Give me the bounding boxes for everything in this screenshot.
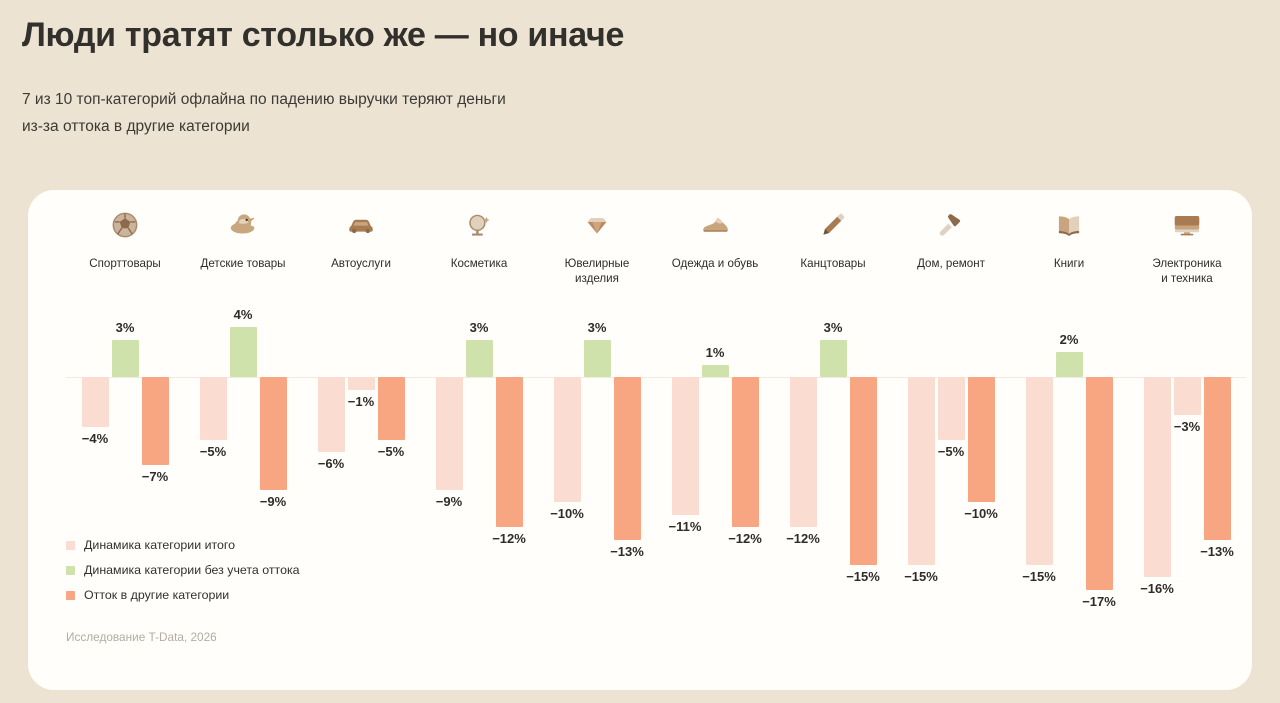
bar-slot: 2% (1056, 318, 1083, 608)
legend-item-outflow[interactable]: Отток в другие категории (66, 588, 300, 602)
bar-отток-в-другие-категории[interactable] (1086, 377, 1113, 590)
bar-group: −6%−1%−5% (302, 318, 420, 608)
bar-value-label: −10% (964, 506, 998, 521)
bar-slot: −15% (1026, 318, 1053, 608)
bar-slot: −9% (436, 318, 463, 608)
source-note: Исследование T-Data, 2026 (66, 630, 217, 644)
bar-value-label: −4% (82, 431, 108, 446)
bar-динамика-категории-итого[interactable] (1026, 377, 1053, 565)
bar-slot: −17% (1086, 318, 1113, 608)
bar-динамика-категории-итого[interactable] (436, 377, 463, 490)
bar-динамика-категории-итого[interactable] (908, 377, 935, 565)
legend-swatch-icon (66, 591, 75, 600)
bar-динамика-категории-без-учета-оттока[interactable] (230, 327, 257, 377)
bar-value-label: −17% (1082, 594, 1116, 609)
category-header-category-3: Автоуслуги (302, 208, 420, 271)
car-icon (344, 208, 378, 242)
bar-динамика-категории-без-учета-оттока[interactable] (820, 340, 847, 378)
bar-slot: −10% (968, 318, 995, 608)
category-label: Ювелирные изделия (565, 256, 630, 286)
bar-динамика-категории-без-учета-оттока[interactable] (938, 377, 965, 440)
bar-динамика-категории-без-учета-оттока[interactable] (584, 340, 611, 378)
category-label: Спорттовары (89, 256, 161, 271)
bar-value-label: 3% (116, 320, 135, 335)
bar-value-label: −12% (492, 531, 526, 546)
bar-slot: −5% (378, 318, 405, 608)
rubber-duck-icon (226, 208, 260, 242)
bar-value-label: −12% (728, 531, 762, 546)
bar-slot: −1% (348, 318, 375, 608)
legend-label: Отток в другие категории (84, 588, 229, 602)
bar-динамика-категории-без-учета-оттока[interactable] (112, 340, 139, 378)
bar-slot: −12% (496, 318, 523, 608)
bar-slot: −10% (554, 318, 581, 608)
category-label: Электроника и техника (1152, 256, 1221, 286)
bar-group: −16%−3%−13% (1128, 318, 1246, 608)
bar-slot: −15% (850, 318, 877, 608)
bar-value-label: −15% (846, 569, 880, 584)
bar-динамика-категории-без-учета-оттока[interactable] (348, 377, 375, 390)
legend-label: Динамика категории без учета оттока (84, 563, 300, 577)
bar-value-label: −7% (142, 469, 168, 484)
bar-value-label: 1% (706, 345, 725, 360)
category-label: Одежда и обувь (672, 256, 759, 271)
bar-динамика-категории-итого[interactable] (672, 377, 699, 515)
bar-динамика-категории-итого[interactable] (1144, 377, 1171, 577)
bar-value-label: −15% (1022, 569, 1056, 584)
shoe-icon (698, 208, 732, 242)
bar-slot: −15% (908, 318, 935, 608)
bar-value-label: −9% (260, 494, 286, 509)
legend-swatch-icon (66, 566, 75, 575)
bar-value-label: −9% (436, 494, 462, 509)
category-label: Дом, ремонт (917, 256, 985, 271)
bar-slot: −6% (318, 318, 345, 608)
bar-slot: 3% (466, 318, 493, 608)
category-header-category-4: Косметика (420, 208, 538, 271)
page-subtitle: 7 из 10 топ-категорий офлайна по падению… (22, 86, 506, 140)
category-header-category-10: Электроника и техника (1128, 208, 1246, 286)
bar-slot: −3% (1174, 318, 1201, 608)
soccer-ball-icon (108, 208, 142, 242)
bar-value-label: 2% (1060, 332, 1079, 347)
category-label: Автоуслуги (331, 256, 391, 271)
bar-slot: 3% (820, 318, 847, 608)
category-label: Канцтовары (800, 256, 865, 271)
bar-динамика-категории-итого[interactable] (554, 377, 581, 502)
chart-card: СпорттоварыДетские товарыАвтоуслугиКосме… (28, 190, 1252, 690)
page-title: Люди тратят столько же — но иначе (22, 16, 624, 55)
bar-динамика-категории-без-учета-оттока[interactable] (1174, 377, 1201, 415)
category-header-category-2: Детские товары (184, 208, 302, 271)
bar-value-label: −1% (348, 394, 374, 409)
chart-legend: Динамика категории итогоДинамика категор… (66, 538, 300, 602)
bar-динамика-категории-итого[interactable] (318, 377, 345, 452)
bar-отток-в-другие-категории[interactable] (614, 377, 641, 540)
bar-slot: −5% (938, 318, 965, 608)
bar-value-label: −12% (786, 531, 820, 546)
bar-slot: −16% (1144, 318, 1171, 608)
category-header-category-8: Дом, ремонт (892, 208, 1010, 271)
bar-group: −9%3%−12% (420, 318, 538, 608)
category-header-category-6: Одежда и обувь (656, 208, 774, 271)
bar-отток-в-другие-категории[interactable] (732, 377, 759, 527)
bar-value-label: −5% (938, 444, 964, 459)
bar-slot: −12% (790, 318, 817, 608)
legend-item-total[interactable]: Динамика категории итого (66, 538, 300, 552)
bar-динамика-категории-итого[interactable] (82, 377, 109, 427)
bar-динамика-категории-без-учета-оттока[interactable] (1056, 352, 1083, 377)
bar-value-label: 4% (234, 307, 253, 322)
bar-value-label: −3% (1174, 419, 1200, 434)
infographic-root: Люди тратят столько же — но иначе 7 из 1… (0, 0, 1280, 703)
bar-group: −15%−5%−10% (892, 318, 1010, 608)
gem-icon (580, 208, 614, 242)
bar-отток-в-другие-категории[interactable] (968, 377, 995, 502)
bar-value-label: 3% (824, 320, 843, 335)
bar-динамика-категории-без-учета-оттока[interactable] (466, 340, 493, 378)
bar-отток-в-другие-категории[interactable] (142, 377, 169, 465)
bar-value-label: −6% (318, 456, 344, 471)
monitor-icon (1170, 208, 1204, 242)
bar-value-label: −16% (1140, 581, 1174, 596)
bar-slot: 3% (584, 318, 611, 608)
hammer-icon (934, 208, 968, 242)
category-label: Детские товары (201, 256, 286, 271)
bar-отток-в-другие-категории[interactable] (850, 377, 877, 565)
bar-value-label: −13% (1200, 544, 1234, 559)
bar-динамика-категории-без-учета-оттока[interactable] (702, 365, 729, 378)
perfume-icon (462, 208, 496, 242)
category-label: Косметика (451, 256, 508, 271)
legend-item-without_outflow[interactable]: Динамика категории без учета оттока (66, 563, 300, 577)
legend-label: Динамика категории итого (84, 538, 235, 552)
bar-value-label: −15% (904, 569, 938, 584)
bar-slot: 1% (702, 318, 729, 608)
bar-value-label: 3% (470, 320, 489, 335)
bar-group: −11%1%−12% (656, 318, 774, 608)
bar-slot: −13% (614, 318, 641, 608)
category-header-category-7: Канцтовары (774, 208, 892, 271)
bar-group: −15%2%−17% (1010, 318, 1128, 608)
open-book-icon (1052, 208, 1086, 242)
bar-динамика-категории-итого[interactable] (200, 377, 227, 440)
bar-динамика-категории-итого[interactable] (790, 377, 817, 527)
bar-value-label: 3% (588, 320, 607, 335)
pencil-icon (816, 208, 850, 242)
legend-swatch-icon (66, 541, 75, 550)
bar-slot: −13% (1204, 318, 1231, 608)
bar-отток-в-другие-категории[interactable] (260, 377, 287, 490)
bar-value-label: −13% (610, 544, 644, 559)
category-label: Книги (1054, 256, 1084, 271)
category-header-category-9: Книги (1010, 208, 1128, 271)
bar-value-label: −10% (550, 506, 584, 521)
bar-group: −12%3%−15% (774, 318, 892, 608)
category-header-strip: СпорттоварыДетские товарыАвтоуслугиКосме… (66, 208, 1246, 318)
bar-slot: −11% (672, 318, 699, 608)
bar-отток-в-другие-категории[interactable] (496, 377, 523, 527)
category-header-category-5: Ювелирные изделия (538, 208, 656, 286)
category-header-category-1: Спорттовары (66, 208, 184, 271)
bar-value-label: −5% (200, 444, 226, 459)
bar-value-label: −11% (669, 519, 702, 534)
bar-отток-в-другие-категории[interactable] (1204, 377, 1231, 540)
bar-slot: −12% (732, 318, 759, 608)
bar-value-label: −5% (378, 444, 404, 459)
bar-group: −10%3%−13% (538, 318, 656, 608)
bar-отток-в-другие-категории[interactable] (378, 377, 405, 440)
